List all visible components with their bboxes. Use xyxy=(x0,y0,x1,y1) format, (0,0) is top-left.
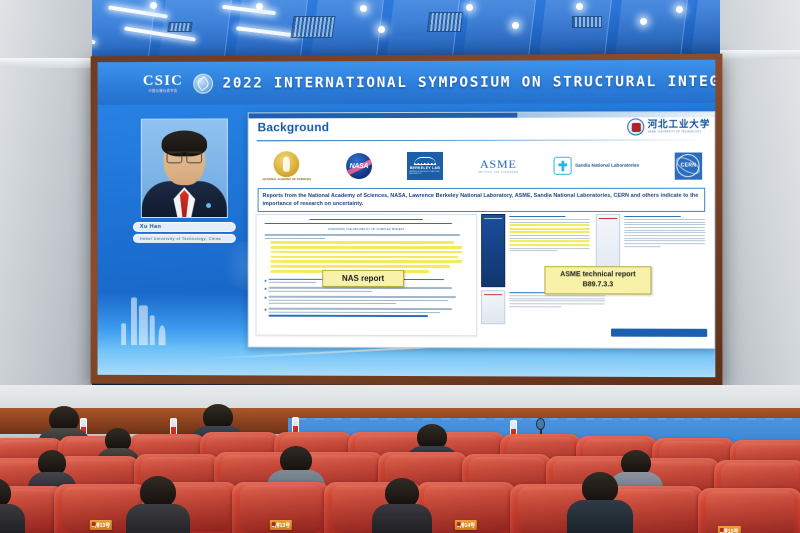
university-name-cn: 河北工业大学 xyxy=(648,120,711,130)
audience-area: 1排13号 1排13号 1排14号 2排13号 2排 xyxy=(0,402,800,533)
nas-label: NATIONAL ACADEMY OF SCIENCES xyxy=(263,178,311,182)
slide-document-thumbnails: ASSESSING THE RELIABILITY OF COMPLEX MOD… xyxy=(249,214,715,337)
air-vent xyxy=(427,12,463,32)
berkeley-label: BERKELEY LAB xyxy=(410,166,440,170)
banner-title: 2022 INTERNATIONAL SYMPOSIUM ON STRUCTUR… xyxy=(223,73,716,91)
auditorium-scene: CSIC 中国仪器仪表学会 2022 INTERNATIONAL SYMPOSI… xyxy=(0,0,800,533)
sandia-label: Sandia National Laboratories xyxy=(575,163,639,169)
air-vent xyxy=(290,16,335,38)
cern-logo: CERN xyxy=(675,152,702,179)
csic-emblem-icon xyxy=(193,73,213,93)
berkeley-badge-icon: BERKELEY LAB LAWRENCE BERKELEY NATIONAL … xyxy=(407,152,443,180)
sandia-mark-icon xyxy=(554,157,572,175)
berkeley-sub: LAWRENCE BERKELEY NATIONAL LABORATORY xyxy=(409,171,441,175)
nas-report-callout: NAS report xyxy=(322,270,404,287)
wall-trim xyxy=(0,58,92,68)
seat-number-tag: 3排13号 xyxy=(90,520,112,530)
speaker-card: Xu Han Hebei University of Technology, C… xyxy=(133,118,236,242)
seat[interactable]: 3排13号 xyxy=(232,482,330,533)
nas-logo: NATIONAL ACADEMY OF SCIENCES xyxy=(263,151,311,182)
berkeley-lab-logo: BERKELEY LAB LAWRENCE BERKELEY NATIONAL … xyxy=(407,152,443,180)
seat-number-tag: 3排15号 xyxy=(718,526,740,533)
lapel-pin-icon xyxy=(206,203,211,208)
asme-guide-cover xyxy=(481,290,505,324)
slide-title-rule xyxy=(257,139,707,141)
ceiling-spotlight xyxy=(466,4,473,11)
led-screen-frame: CSIC 中国仪器仪表学会 2022 INTERNATIONAL SYMPOSI… xyxy=(91,54,723,387)
sandia-logo: Sandia National Laboratories xyxy=(554,157,639,175)
nasa-meatball-icon: NASA xyxy=(346,153,372,179)
ceiling-spotlight xyxy=(150,2,157,9)
air-vent xyxy=(167,22,193,32)
asme-sub: SETTING THE STANDARD xyxy=(478,172,518,174)
asme-logo: ASME SETTING THE STANDARD xyxy=(478,158,518,174)
ceiling-spotlight xyxy=(512,22,519,29)
ceiling-spotlight xyxy=(256,3,263,10)
speaker-affiliation: Hebei University of Technology, China xyxy=(133,234,236,243)
ceiling-spotlight xyxy=(360,5,367,12)
university-logo: 河北工业大学 HEBEI UNIVERSITY OF TECHNOLOGY xyxy=(627,118,710,135)
seat-number-tag: 3排14号 xyxy=(455,520,477,530)
asme-standard-cover xyxy=(481,214,505,287)
asme-guide-text xyxy=(509,290,607,336)
doc-heading: ASSESSING THE RELIABILITY OF COMPLEX MOD… xyxy=(265,227,469,232)
university-name-en: HEBEI UNIVERSITY OF TECHNOLOGY xyxy=(648,130,711,133)
speaker-name: Xu Han xyxy=(133,222,236,232)
asme-report-callout: ASME technical report B89.7.3.3 xyxy=(544,266,651,295)
air-vent xyxy=(572,16,602,28)
ceiling-spotlight xyxy=(378,26,385,33)
event-banner: CSIC 中国仪器仪表学会 2022 INTERNATIONAL SYMPOSI… xyxy=(98,60,716,105)
speaker-portrait xyxy=(141,118,228,218)
led-screen: CSIC 中国仪器仪表学会 2022 INTERNATIONAL SYMPOSI… xyxy=(98,60,716,377)
csic-abbr: CSIC xyxy=(143,73,183,88)
seat-number-tag: 3排13号 xyxy=(270,520,292,530)
csic-sub: 中国仪器仪表学会 xyxy=(148,90,177,93)
nasa-label: NASA xyxy=(350,163,369,170)
ceiling-spotlight xyxy=(576,3,583,10)
nas-seal-icon xyxy=(274,151,300,177)
asme-label: ASME xyxy=(480,158,517,170)
right-wall xyxy=(720,0,800,430)
glasses-icon xyxy=(167,151,203,161)
nasa-logo: NASA xyxy=(346,153,372,179)
cern-label: CERN xyxy=(681,163,697,169)
seat[interactable]: 3排15号 xyxy=(698,488,800,533)
cern-ring-icon: CERN xyxy=(675,152,702,179)
ceiling xyxy=(0,0,800,62)
ceiling-spotlight xyxy=(640,18,647,25)
csic-logo: CSIC 中国仪器仪表学会 xyxy=(143,73,183,93)
hebut-seal-icon xyxy=(627,118,644,135)
presentation-slide: Background 河北工业大学 HEBEI UNIVERSITY OF TE… xyxy=(248,111,716,349)
organization-logos: NATIONAL ACADEMY OF SCIENCES NASA BERKEL… xyxy=(249,142,715,187)
wall-trim xyxy=(720,50,800,59)
highlight-banner xyxy=(611,329,707,337)
slide-header: Background 河北工业大学 HEBEI UNIVERSITY OF TE… xyxy=(249,117,715,143)
slide-statement: Reports from the National Academy of Sci… xyxy=(258,188,706,212)
ceiling-spotlight xyxy=(676,6,683,13)
